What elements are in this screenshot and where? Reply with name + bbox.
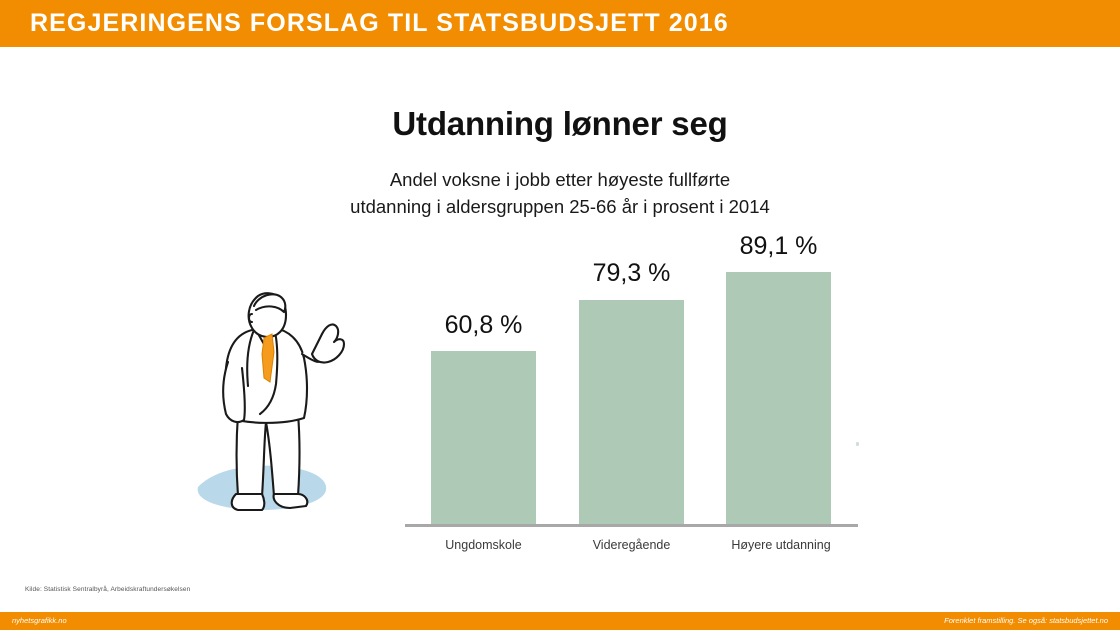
ear-shape	[249, 314, 252, 322]
bar-value-videregaende: 79,3 %	[579, 259, 684, 288]
bar-category-hoyere-utdanning: Høyere utdanning	[706, 538, 856, 552]
left-arm	[223, 362, 245, 422]
source-note: Kilde: Statistisk Sentralbyrå, Arbeidskr…	[25, 586, 190, 593]
bar-category-videregaende: Videregående	[564, 538, 699, 552]
bar-hoyere-utdanning	[726, 272, 831, 524]
footer-bar: nyhetsgrafikk.no Forenklet framstilling.…	[0, 612, 1120, 630]
bar-ungdomskole	[431, 351, 536, 524]
bar-value-hoyere-utdanning: 89,1 %	[726, 232, 831, 261]
bar-videregaende	[579, 300, 684, 524]
speck-artifact	[856, 442, 859, 446]
infographic-page: REGJERINGENS FORSLAG TIL STATSBUDSJETT 2…	[0, 0, 1120, 630]
bar-category-ungdomskole: Ungdomskole	[416, 538, 551, 552]
man-in-suit-illustration	[186, 282, 376, 522]
bar-chart: 60,8 % Ungdomskole 79,3 % Videregående 8…	[0, 0, 1120, 630]
bar-value-ungdomskole: 60,8 %	[431, 311, 536, 340]
right-shoe	[274, 494, 308, 508]
x-axis-line	[405, 524, 858, 527]
footer-right-note[interactable]: Forenklet framstilling. Se også: statsbu…	[944, 616, 1108, 625]
left-shoe	[232, 494, 265, 510]
right-hand	[312, 324, 344, 362]
footer-left-credit[interactable]: nyhetsgrafikk.no	[12, 616, 67, 625]
